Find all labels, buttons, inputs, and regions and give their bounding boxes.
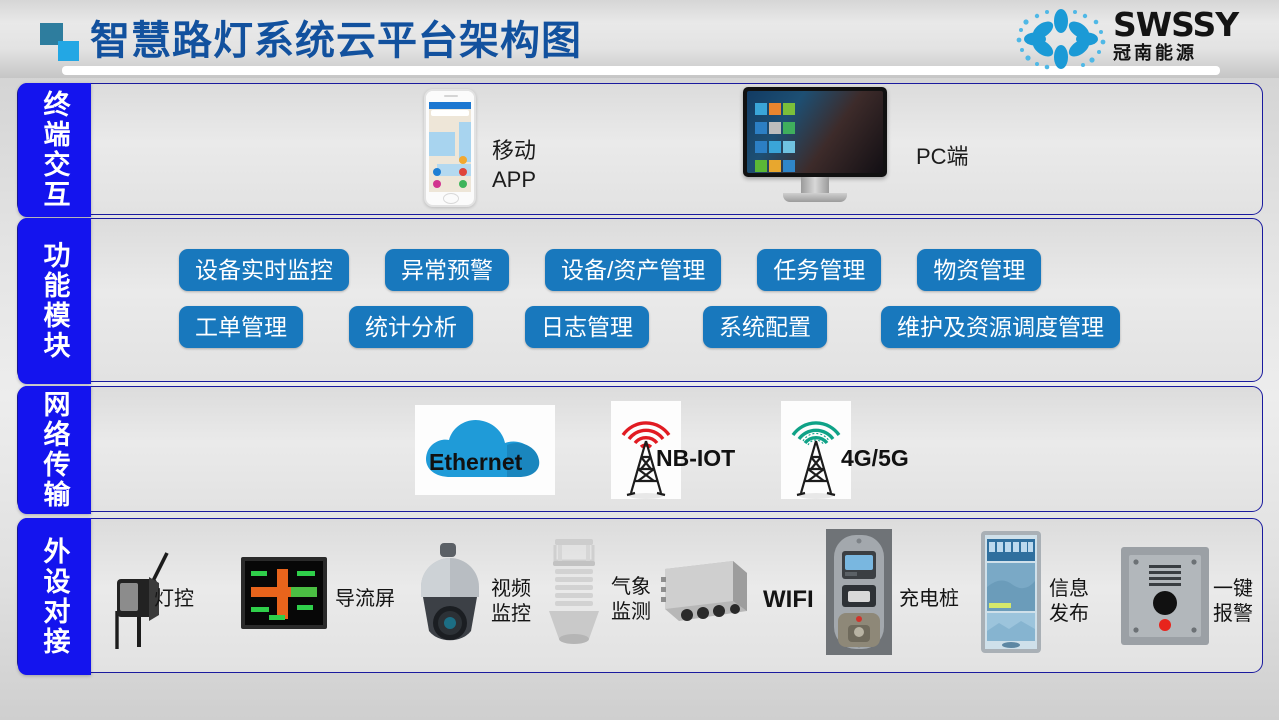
section-label-function: 功能模块 [18, 218, 91, 384]
function-module-button[interactable]: 异常预警 [385, 249, 509, 291]
terminal-label-pc: PC端 [916, 139, 969, 171]
device-label-charging-pile: 充电桩 [899, 587, 959, 612]
function-row-1: 设备实时监控异常预警设备/资产管理任务管理物资管理 [91, 249, 1262, 291]
desktop-monitor-icon [743, 87, 887, 203]
ptz-camera-icon [411, 539, 489, 651]
page-header: 智慧路灯系统云平台架构图 [0, 0, 1279, 78]
logo-subtitle: 冠南能源 [1113, 43, 1238, 64]
device-label-guidance-screen: 导流屏 [335, 587, 395, 612]
function-module-button[interactable]: 日志管理 [525, 306, 649, 348]
function-module-button[interactable]: 统计分析 [349, 306, 473, 348]
function-module-button[interactable]: 任务管理 [757, 249, 881, 291]
guidance-screen-icon [241, 557, 327, 629]
function-module-grid: 设备实时监控异常预警设备/资产管理任务管理物资管理 工单管理统计分析日志管理系统… [91, 219, 1262, 381]
section-label-network: 网络传输 [18, 386, 91, 514]
section-label-device: 外设对接 [18, 518, 91, 675]
water-droplet-logo-icon [1013, 8, 1109, 70]
section-terminal-interaction: 终端交互 移动 APP [17, 83, 1263, 215]
function-module-button[interactable]: 设备/资产管理 [545, 249, 721, 291]
function-row-2: 工单管理统计分析日志管理系统配置维护及资源调度管理 [91, 306, 1262, 348]
company-logo: SWSSY 冠南能源 [1013, 6, 1263, 72]
section-function-modules: 功能模块 设备实时监控异常预警设备/资产管理任务管理物资管理 工单管理统计分析日… [17, 218, 1263, 382]
smartphone-map-app-icon [424, 89, 476, 207]
emergency-call-icon [1121, 547, 1209, 645]
logo-wordmark: SWSSY [1113, 8, 1238, 42]
terminal-items: 移动 APP PC端 [91, 84, 1262, 214]
weather-station-icon [543, 535, 605, 651]
wifi-box-icon [661, 555, 751, 635]
network-items: Ethernet [91, 387, 1262, 511]
network-label-4g5g: 4G/5G [841, 445, 909, 472]
function-module-button[interactable]: 系统配置 [703, 306, 827, 348]
function-module-button[interactable]: 工单管理 [179, 306, 303, 348]
page-title: 智慧路灯系统云平台架构图 [90, 8, 582, 66]
title-square-icon [38, 23, 84, 63]
terminal-label-mobile-app: 移动 APP [492, 136, 536, 194]
function-module-button[interactable]: 物资管理 [917, 249, 1041, 291]
section-network-transmission: 网络传输 Ethernet [17, 386, 1263, 512]
section-peripheral-devices: 外设对接 灯控 [17, 518, 1263, 673]
device-label-info-release: 信息 发布 [1049, 577, 1089, 627]
info-display-icon [981, 531, 1041, 653]
device-label-video-surveillance: 视频 监控 [491, 577, 531, 627]
device-label-wifi: WIFI [763, 587, 814, 612]
function-module-button[interactable]: 设备实时监控 [179, 249, 349, 291]
network-label-nbiot: NB-IOT [656, 445, 735, 472]
device-label-lamp-control: 灯控 [154, 587, 194, 612]
charging-pile-icon [826, 529, 892, 655]
device-items: 灯控 导流屏 [91, 519, 1262, 672]
device-label-one-key-alarm: 一键 报警 [1213, 577, 1253, 627]
section-label-terminal: 终端交互 [18, 83, 91, 217]
device-label-weather-monitoring: 气象 监测 [611, 575, 651, 625]
function-module-button[interactable]: 维护及资源调度管理 [881, 306, 1120, 348]
network-label-ethernet: Ethernet [429, 449, 522, 476]
